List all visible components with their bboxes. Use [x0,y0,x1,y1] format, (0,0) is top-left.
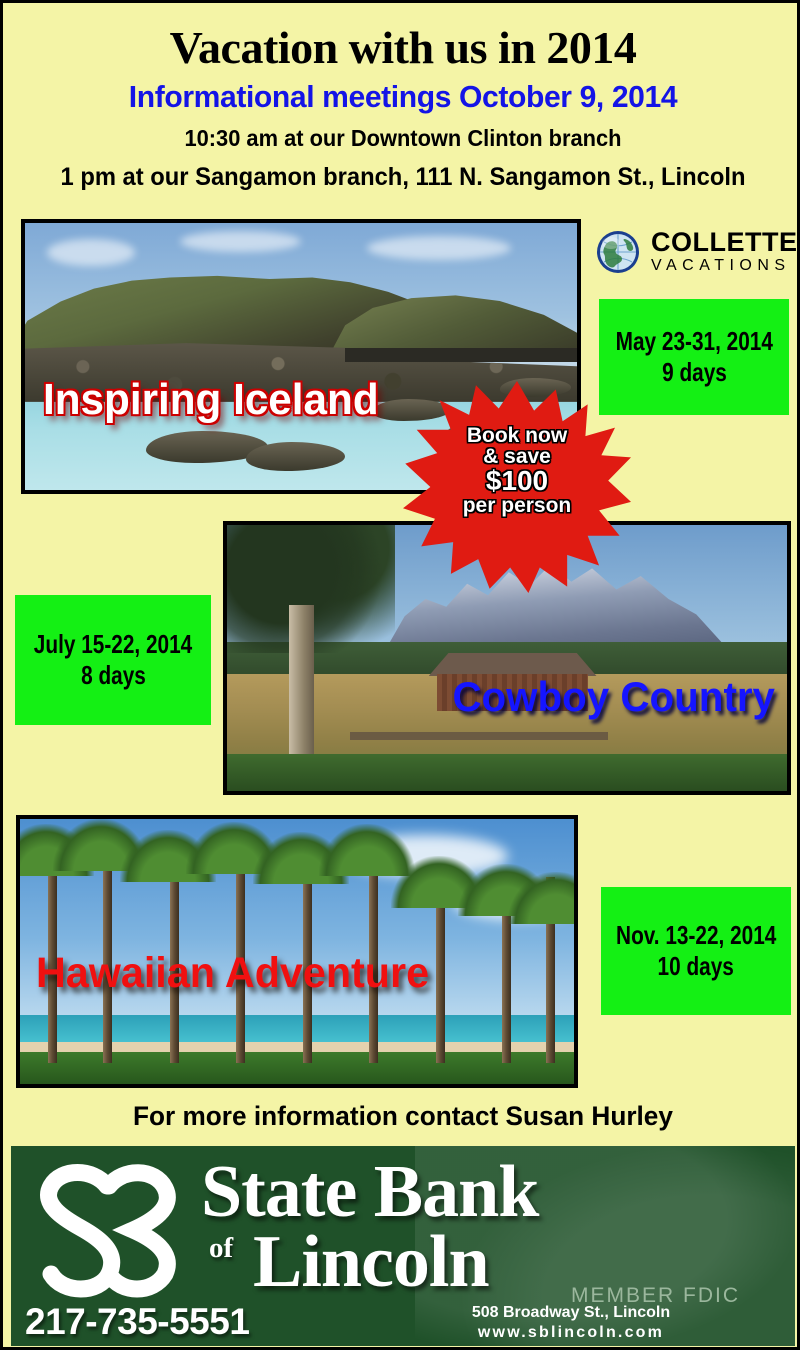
date-range: July 15-22, 2014 [34,629,192,660]
date-range: Nov. 13-22, 2014 [616,920,776,951]
tour-label-hawaii: Hawaiian Adventure [36,949,429,998]
promo-line-1: Book now [411,425,623,446]
bank-website: www.sblincoln.com [411,1324,731,1342]
cloud-shape [47,239,135,266]
meetings-headline: Informational meetings October 9, 2014 [15,79,791,115]
tour-photo-hawaii: Hawaiian Adventure [16,815,578,1088]
promo-line-4: per person [411,495,623,516]
foreground-grass [227,754,787,791]
tour-label-cowboy-country: Cowboy Country [452,673,775,721]
contact-line: For more information contact Susan Hurle… [15,1101,791,1132]
iceland-far-shore [345,348,581,361]
date-badge-hawaii: Nov. 13-22, 2014 10 days [601,887,791,1015]
date-range: May 23-31, 2014 [615,326,772,357]
page-title: Vacation with us in 2014 [3,21,800,74]
bank-phone-number: 217-735-5551 [25,1301,249,1343]
duration: 9 days [662,357,727,388]
bank-name-line-2: Lincoln [253,1220,489,1305]
promo-text: Book now & save $100 per person [411,425,623,516]
bank-address: 508 Broadway St., Lincoln [411,1304,731,1322]
fence-rail [350,732,608,740]
promo-line-2: & save [411,446,623,467]
collette-wordmark: COLLETTE [651,227,798,258]
collette-vacations-logo: COLLETTE VACATIONS [595,225,795,281]
globe-icon [595,229,641,275]
bank-name-of: of [209,1232,233,1265]
vacation-advertisement-poster: Vacation with us in 2014 Informational m… [0,0,800,1350]
meeting-detail-1: 10:30 am at our Downtown Clinton branch [23,125,783,152]
date-badge-iceland: May 23-31, 2014 9 days [599,299,789,415]
duration: 8 days [81,660,146,691]
state-bank-of-lincoln-banner: State Bank of Lincoln MEMBER FDIC 217-73… [11,1146,795,1346]
sb-monogram-icon [33,1156,193,1306]
lava-rock [373,399,450,420]
date-badge-cowboy-country: July 15-22, 2014 8 days [15,595,211,725]
meeting-detail-2: 1 pm at our Sangamon branch, 111 N. Sang… [23,163,783,192]
promo-amount: $100 [411,467,623,495]
collette-subtitle: VACATIONS [651,257,791,275]
tour-label-iceland: Inspiring Iceland [43,375,379,425]
duration: 10 days [658,951,734,982]
